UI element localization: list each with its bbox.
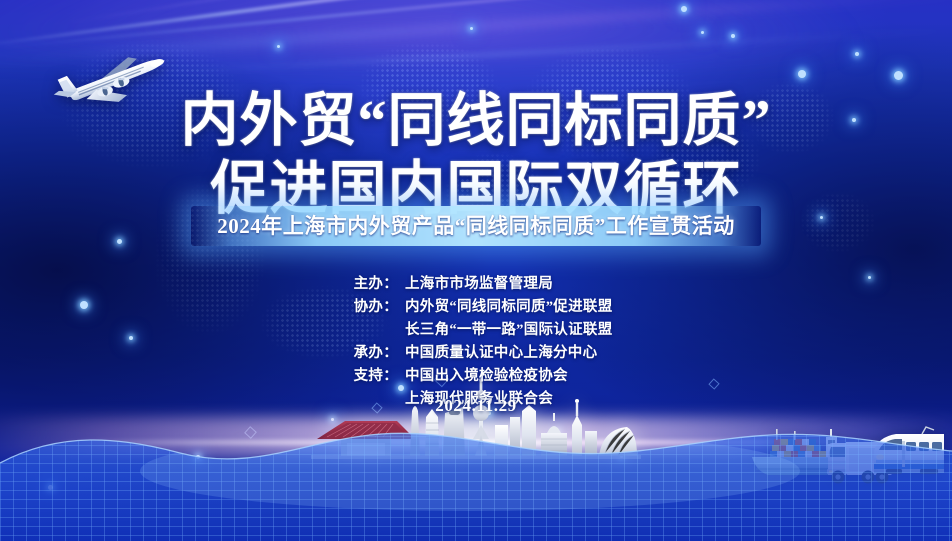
organizer-label: 支持： — [334, 364, 398, 385]
organizer-label: 主办： — [334, 272, 398, 293]
event-date: 2024.11.29 — [0, 396, 952, 416]
subtitle-container: 2024年上海市内外贸产品“同线同标同质”工作宣贯活动 — [0, 206, 952, 246]
organizer-label: 承办： — [334, 341, 398, 362]
page-title: 内外贸“同线同标同质” 促进国内国际双循环 — [0, 87, 952, 224]
conference-poster: 内外贸“同线同标同质” 促进国内国际双循环 2024年上海市内外贸产品“同线同标… — [0, 0, 952, 541]
organizer-value: 上海市市场监督管理局 — [398, 272, 618, 293]
subtitle-glow-band: 2024年上海市内外贸产品“同线同标同质”工作宣贯活动 — [191, 206, 761, 246]
organizer-value: 中国出入境检验检疫协会 — [398, 364, 618, 385]
organizer-row: 主办： 上海市市场监督管理局 — [334, 272, 618, 293]
poster-text-content: 内外贸“同线同标同质” 促进国内国际双循环 2024年上海市内外贸产品“同线同标… — [0, 0, 952, 541]
organizer-row: 协办： 内外贸“同线同标同质”促进联盟 — [334, 295, 618, 316]
organizer-row: 承办： 中国质量认证中心上海分中心 — [334, 341, 618, 362]
organizer-row: 支持： 中国出入境检验检疫协会 — [334, 364, 618, 385]
subtitle: 2024年上海市内外贸产品“同线同标同质”工作宣贯活动 — [217, 210, 735, 240]
organizer-label: 协办： — [334, 295, 398, 316]
organizer-value: 长三角“一带一路”国际认证联盟 — [398, 318, 618, 339]
organizer-list: 主办： 上海市市场监督管理局 协办： 内外贸“同线同标同质”促进联盟 协办： 长… — [0, 272, 952, 408]
organizer-value: 内外贸“同线同标同质”促进联盟 — [398, 295, 618, 316]
organizer-row: 协办： 长三角“一带一路”国际认证联盟 — [334, 318, 618, 339]
title-line-1: 内外贸“同线同标同质” — [180, 88, 771, 153]
organizer-value: 中国质量认证中心上海分中心 — [398, 341, 618, 362]
